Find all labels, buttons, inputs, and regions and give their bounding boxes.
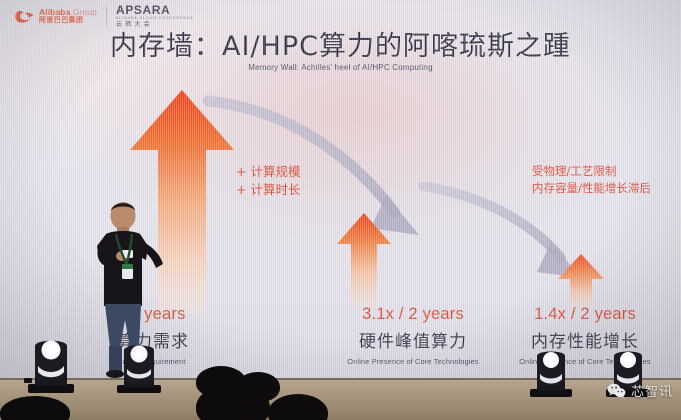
annotation-right-line1: 受物理/工艺限制 <box>532 163 651 180</box>
stage-light-center <box>112 340 166 396</box>
growth-arrow-medium <box>336 212 392 306</box>
alibaba-name-en-suffix: Group <box>73 7 97 17</box>
annotation-right-line2: 内存容量/性能增长滞后 <box>532 180 651 197</box>
stage-light-left <box>22 334 80 396</box>
alibaba-mark-icon <box>14 9 36 24</box>
annotation-left-line1: + 计算规模 <box>236 163 300 181</box>
stage-floor-edge <box>0 378 681 380</box>
alibaba-logo: Alibaba Group 阿里巴巴集团 <box>14 8 97 24</box>
annotation-left: + 计算规模 + 计算时长 <box>236 163 300 199</box>
stage-floor <box>0 378 681 420</box>
slide-title: 内存墙：AI/HPC算力的阿喀琉斯之踵 <box>0 24 681 63</box>
stage-light-right-1 <box>526 347 576 399</box>
audience-head <box>236 372 280 402</box>
logo-divider <box>106 7 107 26</box>
growth-arrow-small <box>557 253 605 307</box>
wechat-icon <box>607 383 626 399</box>
watermark: 芯智讯 <box>607 381 673 400</box>
apsara-name-en-sub: ALIBABA CLOUD CONFERENCE <box>116 17 194 21</box>
metric-value: 1.4x / 2 years <box>480 305 681 324</box>
screenshot-root: Alibaba Group 阿里巴巴集团 APSARA ALIBABA CLOU… <box>0 0 681 420</box>
slide-subtitle: Memory Wall: Achilles' heel of AI/HPC Co… <box>0 63 681 72</box>
annotation-left-line2: + 计算时长 <box>236 181 300 199</box>
watermark-text: 芯智讯 <box>631 381 673 400</box>
annotation-right: 受物理/工艺限制 内存容量/性能增长滞后 <box>532 163 651 196</box>
alibaba-name-en: Alibaba <box>39 7 70 17</box>
